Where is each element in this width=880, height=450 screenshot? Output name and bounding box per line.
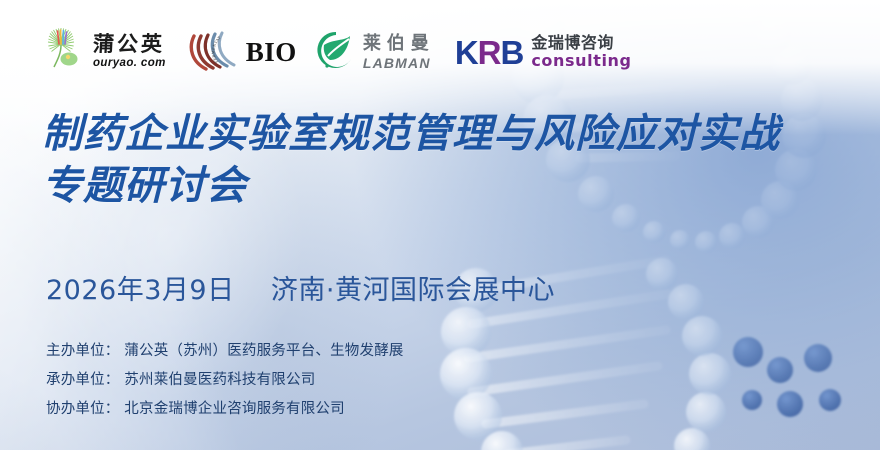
organizer-undertaker: 承办单位： 苏州莱伯曼医药科技有限公司: [46, 366, 404, 395]
headline-line-2: 专题研讨会: [42, 160, 862, 212]
logo-ouryao[interactable]: 蒲公英 ouryao. com: [44, 27, 166, 78]
krb-letter-b: B: [501, 36, 524, 69]
logo-krb[interactable]: K R B 金瑞博咨询 consulting: [455, 35, 632, 69]
event-date-venue: 2026年3月9日 济南·黄河国际会展中心: [46, 268, 555, 307]
organizer-host: 主办单位： 蒲公英（苏州）医药服务平台、生物发酵展: [46, 337, 404, 366]
logo-labman[interactable]: 莱伯曼 LABMAN: [315, 29, 435, 76]
krb-wordmark-icon: K R B: [455, 36, 524, 69]
sponsor-logo-bar: 蒲公英 ouryao. com FERMENTATION: [44, 26, 632, 78]
labman-leaf-icon: [315, 29, 357, 76]
poster-headline: 制药企业实验室规范管理与风险应对实战 专题研讨会: [42, 108, 862, 212]
organizer-coorganizer: 协办单位： 北京金瑞博企业咨询服务有限公司: [46, 395, 404, 424]
logo-ouryao-en: ouryao. com: [93, 58, 166, 70]
headline-line-1: 制药企业实验室规范管理与风险应对实战: [42, 108, 862, 160]
bio-arcs-icon: FERMENTATION: [188, 28, 244, 77]
logo-labman-cn: 莱伯曼: [363, 35, 435, 53]
organizer-list: 主办单位： 蒲公英（苏州）医药服务平台、生物发酵展 承办单位： 苏州莱伯曼医药科…: [46, 337, 404, 424]
event-poster: 蒲公英 ouryao. com FERMENTATION: [0, 0, 880, 450]
logo-ouryao-cn: 蒲公英: [93, 34, 166, 55]
logo-labman-en: LABMAN: [363, 56, 435, 70]
logo-krb-cn: 金瑞博咨询: [531, 35, 631, 51]
logo-bio-wordmark: BIO: [246, 37, 297, 68]
krb-letter-r: R: [478, 36, 501, 69]
logo-krb-en: consulting: [531, 53, 631, 69]
krb-letter-k: K: [455, 36, 478, 69]
logo-bio[interactable]: FERMENTATION BIO: [188, 28, 297, 77]
dandelion-icon: [44, 27, 86, 78]
